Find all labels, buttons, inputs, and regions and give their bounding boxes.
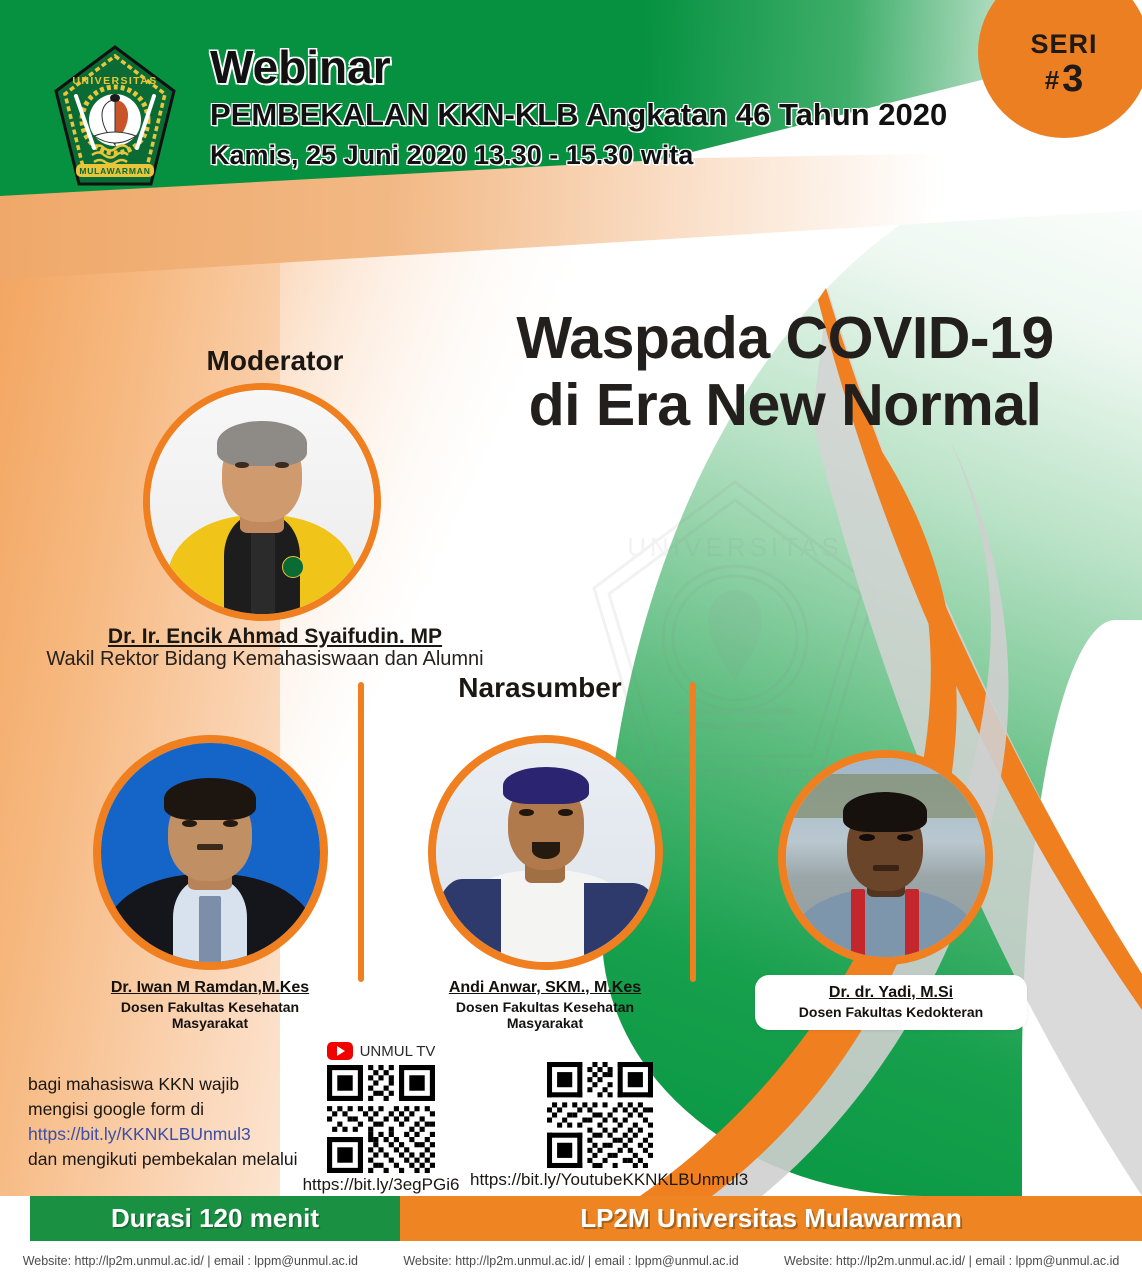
qr-caption-2: https://bit.ly/YoutubeKKNKLBUnmul3 [470, 1170, 730, 1190]
footer-contact-bar: Website: http://lp2m.unmul.ac.id/ | emai… [0, 1241, 1142, 1280]
footer-contact-1: Website: http://lp2m.unmul.ac.id/ | emai… [0, 1254, 381, 1268]
registration-line-1: bagi mahasiswa KKN wajib [28, 1072, 328, 1097]
divider-left [358, 682, 364, 982]
footer-contact-2: Website: http://lp2m.unmul.ac.id/ | emai… [381, 1254, 762, 1268]
speaker-1-name: Dr. Iwan M Ramdan,M.Kes [85, 979, 335, 997]
qr-code-block-1: UNMUL TV [296, 1042, 466, 1195]
speaker-2-name: Andi Anwar, SKM., M.Kes [420, 979, 670, 997]
speaker-card-1: Dr. Iwan M Ramdan,M.Kes Dosen Fakultas K… [85, 735, 335, 1031]
speaker-card-2: Andi Anwar, SKM., M.Kes Dosen Fakultas K… [420, 735, 670, 1031]
universitas-mulawarman-logo: UNIVERSITAS MULAWARMAN [50, 44, 180, 194]
registration-link[interactable]: https://bit.ly/KKNKLBUnmul3 [28, 1122, 328, 1147]
youtube-icon [327, 1042, 353, 1060]
moderator-section-label: Moderator [110, 345, 440, 377]
footer-duration-text: Durasi 120 menit [111, 1203, 319, 1234]
registration-line-3: dan mengikuti pembekalan melalui [28, 1147, 328, 1172]
footer-organizer-text: LP2M Universitas Mulawarman [580, 1203, 961, 1234]
speaker-1-photo [93, 735, 328, 970]
main-title-line-2: di Era New Normal [455, 372, 1115, 439]
qr-code-1[interactable] [327, 1065, 435, 1173]
speaker-card-3: Dr. dr. Yadi, M.Si Dosen Fakultas Kedokt… [760, 750, 1010, 1030]
webinar-title: Webinar [210, 44, 947, 91]
speaker-1-role: Dosen Fakultas Kesehatan Masyarakat [85, 999, 335, 1031]
header-text-block: Webinar PEMBEKALAN KKN-KLB Angkatan 46 T… [210, 44, 947, 170]
divider-right [690, 682, 696, 982]
footer-contact-3: Website: http://lp2m.unmul.ac.id/ | emai… [761, 1254, 1142, 1268]
header-subtitle-1: PEMBEKALAN KKN-KLB Angkatan 46 Tahun 202… [210, 99, 947, 132]
speaker-3-role: Dosen Fakultas Kedokteran [761, 1004, 1021, 1020]
registration-info: bagi mahasiswa KKN wajib mengisi google … [28, 1072, 328, 1171]
footer-organizer-bar: LP2M Universitas Mulawarman [400, 1196, 1142, 1241]
svg-text:UNIVERSITAS: UNIVERSITAS [627, 532, 842, 562]
youtube-channel-label: UNMUL TV [360, 1043, 436, 1060]
svg-text:UNIVERSITAS: UNIVERSITAS [72, 75, 157, 87]
moderator-name: Dr. Ir. Encik Ahmad Syaifudin. MP [20, 625, 530, 649]
svg-text:MULAWARMAN: MULAWARMAN [79, 166, 150, 176]
seri-number: #3 [1045, 60, 1084, 100]
webinar-poster: UNIVERSITAS MULAWARMAN SERI #3 [0, 0, 1142, 1280]
speaker-3-photo [778, 750, 993, 965]
seri-value: 3 [1062, 58, 1083, 100]
speaker-3-label-card: Dr. dr. Yadi, M.Si Dosen Fakultas Kedokt… [755, 975, 1027, 1030]
speaker-2-role: Dosen Fakultas Kesehatan Masyarakat [420, 999, 670, 1031]
speaker-2-photo [428, 735, 663, 970]
seri-label: SERI [1030, 31, 1097, 58]
narasumber-section-label: Narasumber [395, 672, 685, 704]
qr-code-block-2: https://bit.ly/YoutubeKKNKLBUnmul3 [470, 1062, 730, 1190]
footer-duration-bar: Durasi 120 menit [30, 1196, 400, 1241]
moderator-photo [143, 383, 381, 621]
main-title-line-1: Waspada COVID-19 [455, 305, 1115, 372]
main-title: Waspada COVID-19 di Era New Normal [455, 305, 1115, 438]
speaker-3-name: Dr. dr. Yadi, M.Si [761, 984, 1021, 1002]
registration-line-2: mengisi google form di [28, 1097, 328, 1122]
youtube-channel-row: UNMUL TV [296, 1042, 466, 1060]
moderator-role: Wakil Rektor Bidang Kemahasiswaan dan Al… [0, 648, 530, 671]
hash-symbol: # [1045, 65, 1059, 95]
qr-caption-1: https://bit.ly/3egPGi6 [296, 1175, 466, 1195]
qr-code-2[interactable] [547, 1062, 653, 1168]
header-subtitle-2: Kamis, 25 Juni 2020 13.30 - 15.30 wita [210, 141, 947, 169]
